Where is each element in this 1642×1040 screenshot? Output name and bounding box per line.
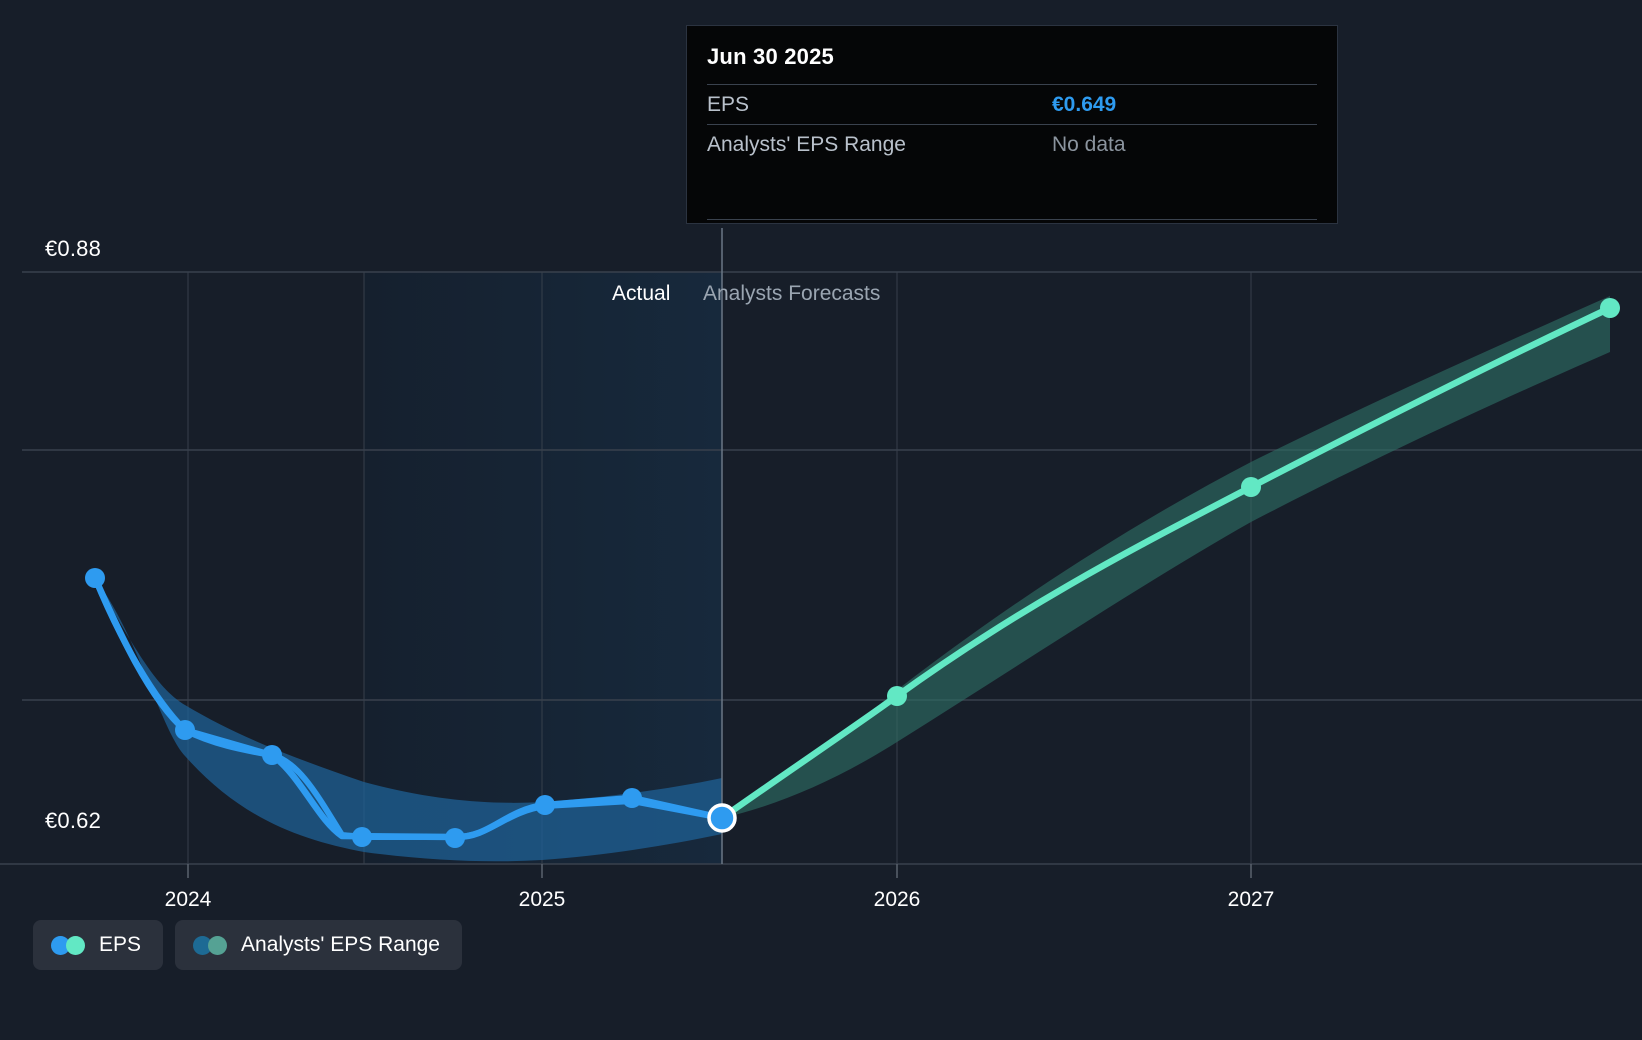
data-point xyxy=(1241,477,1261,497)
x-axis-ticks xyxy=(188,864,1251,878)
x-axis-label-2027: 2027 xyxy=(1228,888,1275,912)
highlighted-data-point[interactable] xyxy=(709,805,735,831)
tooltip-row-value: No data xyxy=(1052,133,1126,157)
data-point xyxy=(535,795,555,815)
data-point xyxy=(887,686,907,706)
y-axis-label-min: €0.62 xyxy=(45,808,101,834)
legend-item-analysts-range[interactable]: Analysts' EPS Range xyxy=(175,920,462,970)
tooltip-row-label: EPS xyxy=(707,93,1052,117)
legend-item-eps[interactable]: EPS xyxy=(33,920,163,970)
legend-item-label: EPS xyxy=(99,933,141,957)
tooltip-row-value: €0.649 xyxy=(1052,93,1116,117)
tooltip-row-eps: EPS €0.649 xyxy=(707,84,1317,124)
legend-swatch-icon xyxy=(51,936,85,955)
x-axis-label-2026: 2026 xyxy=(874,888,921,912)
x-axis-label-2025: 2025 xyxy=(519,888,566,912)
data-point xyxy=(445,828,465,848)
data-point xyxy=(622,788,642,808)
data-point xyxy=(1600,298,1620,318)
legend-item-label: Analysts' EPS Range xyxy=(241,933,440,957)
y-axis-label-max: €0.88 xyxy=(45,236,101,262)
data-point xyxy=(85,568,105,588)
eps-forecast-chart: €0.88 €0.62 2024 2025 2026 2027 Actual A… xyxy=(0,0,1642,1040)
legend-swatch-icon xyxy=(193,936,227,955)
x-axis-label-2024: 2024 xyxy=(165,888,212,912)
data-point xyxy=(262,745,282,765)
forecast-period-label: Analysts Forecasts xyxy=(703,282,880,306)
tooltip-row-label: Analysts' EPS Range xyxy=(707,133,1052,157)
data-point xyxy=(352,827,372,847)
chart-tooltip: Jun 30 2025 EPS €0.649 Analysts' EPS Ran… xyxy=(686,25,1338,224)
tooltip-date: Jun 30 2025 xyxy=(707,44,1317,84)
tooltip-spacer xyxy=(707,164,1317,220)
chart-legend: EPS Analysts' EPS Range xyxy=(33,920,462,970)
tooltip-row-range: Analysts' EPS Range No data xyxy=(707,124,1317,164)
actual-period-shading xyxy=(364,272,722,864)
data-point xyxy=(175,720,195,740)
